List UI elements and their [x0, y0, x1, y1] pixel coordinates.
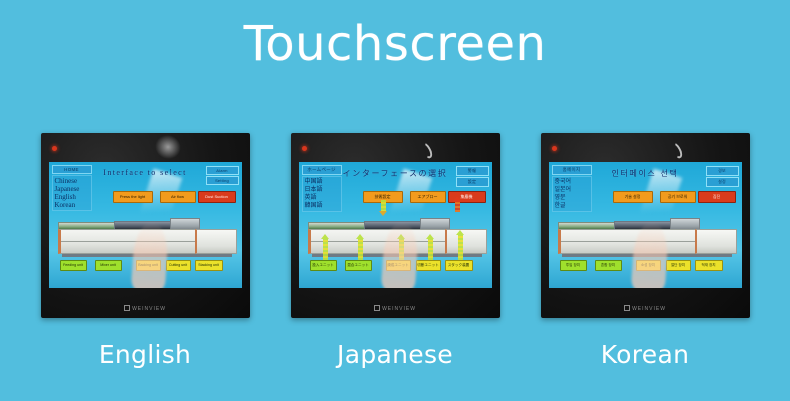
unit-button-mixer[interactable]: 混合ユニット	[345, 260, 372, 271]
machine-base	[312, 254, 482, 257]
brand-text: WEINVIEW	[632, 306, 666, 312]
unit-button-mixer[interactable]: 혼합 장치	[595, 260, 622, 271]
setting-button[interactable]: Setting	[206, 176, 239, 185]
bezel-glare-icon	[152, 133, 184, 162]
brand-text: WEINVIEW	[132, 306, 166, 312]
top-right-buttons[interactable]: Alarm Setting	[206, 166, 239, 186]
action-button-press-light[interactable]: 기술 설정	[613, 191, 653, 203]
language-option-english[interactable]: 英語	[305, 194, 339, 202]
unit-button-backing[interactable]: Backing unit	[136, 260, 161, 271]
callout-arrow-down-1	[381, 200, 386, 212]
language-option-japanese[interactable]: 일본어	[555, 186, 589, 194]
language-option-english[interactable]: 영문	[555, 194, 589, 202]
unit-button-mixer[interactable]: Mixer unit	[95, 260, 122, 271]
caption-english: English	[41, 338, 250, 372]
bezel-reflection-icon	[669, 141, 685, 160]
production-line-graphic	[554, 214, 737, 254]
unit-button-stacking[interactable]: スタック装置	[445, 260, 473, 271]
production-line-graphic	[54, 214, 237, 254]
machine-base	[62, 254, 232, 257]
brand-label: WEINVIEW	[41, 305, 250, 312]
hmi-screen[interactable]: Interface to select HOME Chinese Japanes…	[49, 162, 242, 288]
action-button-air-flow[interactable]: エアブロー	[410, 191, 446, 203]
unit-button-feeding[interactable]: Feeding unit	[60, 260, 87, 271]
language-selector[interactable]: 홈페이지 중국어 일본어 영문 한글	[552, 165, 592, 212]
monitor-bezel: インターフェースの選択 ホームページ 中国語 日本語 英語 韓国語 警報 設定 …	[291, 133, 500, 318]
top-right-buttons[interactable]: 경보 설정	[706, 166, 739, 188]
touchscreen-panel-korean: 인터페이스 선택 홈페이지 중국어 일본어 영문 한글 경보 설정 기술 설정 …	[541, 133, 750, 318]
power-led-icon	[52, 146, 57, 151]
action-button-dust-suction[interactable]: 집진	[698, 191, 736, 203]
unit-button-cutting[interactable]: 절단 장치	[666, 260, 691, 271]
language-selector[interactable]: HOME Chinese Japanese English Korean	[52, 165, 92, 211]
action-button-air-flow[interactable]: 공기 브로워	[660, 191, 696, 203]
action-button-press-light[interactable]: Press the light	[113, 191, 153, 203]
language-option-chinese[interactable]: Chinese	[55, 177, 89, 185]
alarm-button[interactable]: Alarm	[206, 166, 239, 175]
hmi-screen[interactable]: インターフェースの選択 ホームページ 中国語 日本語 英語 韓国語 警報 設定 …	[299, 162, 492, 288]
setting-button[interactable]: 設定	[456, 177, 489, 187]
unit-button-stacking[interactable]: Stacking unit	[195, 260, 223, 271]
brand-label: WEINVIEW	[541, 305, 750, 312]
language-option-japanese[interactable]: Japanese	[55, 185, 89, 193]
home-tab[interactable]: HOME	[52, 165, 92, 174]
action-button-air-flow[interactable]: Air flow	[160, 191, 196, 203]
setting-button[interactable]: 설정	[706, 177, 739, 187]
language-option-japanese[interactable]: 日本語	[305, 186, 339, 194]
machine-cabinet	[58, 229, 203, 254]
caption-japanese: Japanese	[291, 338, 500, 372]
unit-button-cutting[interactable]: 切断ユニット	[416, 260, 441, 271]
language-list[interactable]: Chinese Japanese English Korean	[52, 175, 92, 211]
language-option-korean[interactable]: 한글	[555, 202, 589, 210]
unit-button-feeding[interactable]: 투입 장치	[560, 260, 587, 271]
monitor-bezel: 인터페이스 선택 홈페이지 중국어 일본어 영문 한글 경보 설정 기술 설정 …	[541, 133, 750, 318]
machine-stacker	[445, 229, 487, 254]
callout-arrow-down-2	[455, 200, 460, 212]
language-selector[interactable]: ホームページ 中国語 日本語 英語 韓国語	[302, 165, 342, 212]
brand-logo-icon	[374, 305, 380, 311]
machine-stacker	[195, 229, 237, 254]
bezel-reflection-icon	[419, 141, 435, 160]
top-right-buttons[interactable]: 警報 設定	[456, 166, 489, 188]
brand-label: WEINVIEW	[291, 305, 500, 312]
unit-button-stacking[interactable]: 적재 장치	[695, 260, 723, 271]
action-button-dust-suction[interactable]: Dust Suction	[198, 191, 236, 203]
language-option-english[interactable]: English	[55, 193, 89, 201]
machine-base	[562, 254, 732, 257]
unit-button-backing[interactable]: 焼成ユニット	[386, 260, 411, 271]
unit-button-feeding[interactable]: 投入ユニット	[310, 260, 337, 271]
monitor-bezel: Interface to select HOME Chinese Japanes…	[41, 133, 250, 318]
language-option-korean[interactable]: Korean	[55, 201, 89, 209]
machine-stacker	[695, 229, 737, 254]
page-title: Touchscreen	[0, 14, 790, 74]
caption-row: English Japanese Korean	[0, 332, 790, 377]
language-option-chinese[interactable]: 中国語	[305, 178, 339, 186]
touchscreen-panel-japanese: インターフェースの選択 ホームページ 中国語 日本語 英語 韓国語 警報 設定 …	[291, 133, 500, 318]
unit-button-cutting[interactable]: Cutting unit	[166, 260, 191, 271]
language-list[interactable]: 中国語 日本語 英語 韓国語	[302, 176, 342, 212]
touchscreen-panel-english: Interface to select HOME Chinese Japanes…	[41, 133, 250, 318]
brand-logo-icon	[624, 305, 630, 311]
machine-cabinet	[558, 229, 703, 254]
hmi-screen[interactable]: 인터페이스 선택 홈페이지 중국어 일본어 영문 한글 경보 설정 기술 설정 …	[549, 162, 742, 288]
power-led-icon	[302, 146, 307, 151]
home-tab[interactable]: 홈페이지	[552, 165, 592, 175]
brand-text: WEINVIEW	[382, 306, 416, 312]
alarm-button[interactable]: 警報	[456, 166, 489, 176]
unit-button-backing[interactable]: 소성 장치	[636, 260, 661, 271]
power-led-icon	[552, 146, 557, 151]
language-option-chinese[interactable]: 중국어	[555, 178, 589, 186]
callout-arrow-up-3	[399, 238, 404, 264]
caption-korean: Korean	[541, 338, 750, 372]
alarm-button[interactable]: 경보	[706, 166, 739, 176]
touchscreen-panel-row: Interface to select HOME Chinese Japanes…	[0, 133, 790, 318]
language-list[interactable]: 중국어 일본어 영문 한글	[552, 176, 592, 212]
language-option-korean[interactable]: 韓国語	[305, 202, 339, 210]
home-tab[interactable]: ホームページ	[302, 165, 342, 175]
brand-logo-icon	[124, 305, 130, 311]
